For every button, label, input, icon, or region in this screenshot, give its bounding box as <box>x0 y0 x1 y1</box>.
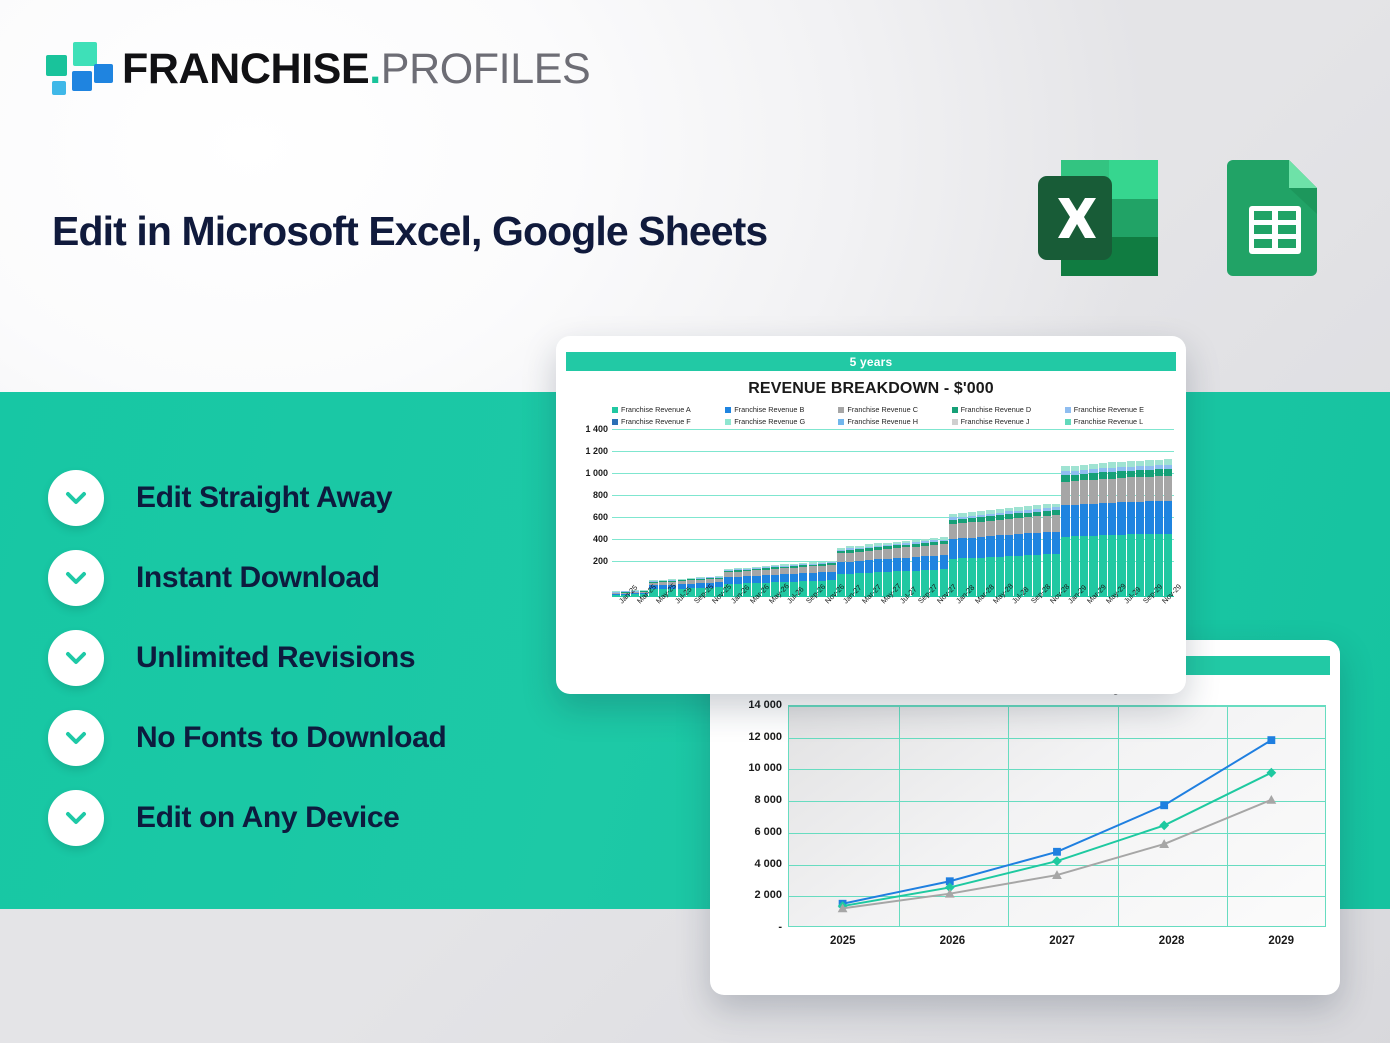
legend-item: Franchise Revenue G <box>725 417 838 426</box>
bar-segment <box>977 522 985 537</box>
y-tick-label: 8 000 <box>754 794 782 806</box>
list-item: No Fonts to Download <box>48 698 446 778</box>
bar-segment <box>1014 518 1022 534</box>
bar-column <box>1061 466 1069 597</box>
bar-column <box>1155 460 1163 597</box>
bar-segment <box>1099 472 1107 479</box>
y-axis-labels: 1 4001 2001 000800600400200 <box>566 429 608 583</box>
app-icon-group <box>1032 152 1342 284</box>
bar-segment <box>1014 534 1022 556</box>
data-point-marker <box>1266 795 1276 804</box>
bar-segment <box>968 538 976 558</box>
bar-segment <box>1080 504 1088 536</box>
y-tick-label: 800 <box>593 490 608 500</box>
bar-segment <box>893 558 901 571</box>
bar-segment <box>1136 477 1144 502</box>
bar-segment <box>1127 502 1135 535</box>
x-tick-label: 2026 <box>940 935 966 947</box>
bar-segment <box>1043 532 1051 554</box>
plot-area <box>788 705 1326 927</box>
bar-segment <box>1089 480 1097 504</box>
bar-segment <box>790 574 798 582</box>
bar-segment <box>986 536 994 557</box>
bar-segment <box>1005 535 1013 556</box>
bar-segment <box>1164 469 1172 476</box>
bar-segment <box>1164 501 1172 534</box>
legend-item: Franchise Revenue E <box>1065 405 1178 414</box>
bar-segment <box>1043 516 1051 533</box>
legend-label: Franchise Revenue H <box>847 417 918 426</box>
feature-list: Edit Straight Away Instant Download Unli… <box>48 458 446 858</box>
bar-segment <box>1052 532 1060 554</box>
bar-segment <box>1145 501 1153 534</box>
legend-swatch <box>725 407 731 413</box>
y-tick-label: 600 <box>593 512 608 522</box>
y-tick-label: 4 000 <box>754 858 782 870</box>
bar-segment <box>855 552 863 561</box>
bar-column <box>1071 466 1079 598</box>
y-tick-label: 10 000 <box>748 762 782 774</box>
brand-logo: FRANCHISE.PROFILES <box>46 42 590 96</box>
bar-segment <box>958 538 966 558</box>
bar-segment <box>1024 517 1032 533</box>
bar-segment <box>752 576 760 583</box>
bar-segment <box>921 546 929 556</box>
bar-segment <box>1136 470 1144 477</box>
google-sheets-icon <box>1208 152 1342 284</box>
microsoft-excel-icon <box>1032 152 1166 284</box>
legend-swatch <box>952 407 958 413</box>
bar-segment <box>1071 481 1079 505</box>
bar-segment <box>1155 476 1163 501</box>
bar-segment <box>1033 533 1041 555</box>
legend-swatch <box>725 419 731 425</box>
bar-column <box>1089 464 1097 597</box>
chart-title: REVENUE BREAKDOWN - $'000 <box>556 380 1186 398</box>
chevron-down-icon <box>48 470 104 526</box>
data-point-marker <box>1160 801 1168 809</box>
bar-segment <box>874 550 882 560</box>
legend-swatch <box>1065 419 1071 425</box>
feature-label: No Fonts to Download <box>136 721 446 755</box>
bar-segment <box>921 556 929 570</box>
legend-swatch <box>952 419 958 425</box>
chevron-down-icon <box>48 550 104 606</box>
legend-item: Franchise Revenue H <box>838 417 951 426</box>
bar-column <box>1024 506 1032 597</box>
bar-column <box>1164 459 1172 597</box>
legend-label: Franchise Revenue E <box>1074 405 1144 414</box>
bar-segment <box>949 539 957 559</box>
bar-column <box>1127 461 1135 597</box>
feature-label: Edit on Any Device <box>136 801 399 835</box>
bar-segment <box>837 553 845 562</box>
bar-segment <box>1089 473 1097 480</box>
legend-item: Franchise Revenue L <box>1065 417 1178 426</box>
x-tick-label: 2025 <box>830 935 856 947</box>
bar-segment <box>771 575 779 583</box>
bar-segment <box>1033 516 1041 533</box>
bar-segment <box>883 549 891 559</box>
x-axis-labels: 20252026202720282029 <box>788 935 1326 955</box>
x-axis-labels: Jan-25Mar-25May-25Jul-25Sep-25Nov-25Jan-… <box>612 597 1174 645</box>
bar-segment <box>855 561 863 573</box>
bar-segment <box>1117 502 1125 534</box>
bar-segment <box>837 562 845 574</box>
legend-swatch <box>838 419 844 425</box>
y-tick-label: 1 000 <box>585 468 608 478</box>
legend-label: Franchise Revenue F <box>621 417 691 426</box>
legend-label: Franchise Revenue L <box>1074 417 1143 426</box>
bar-segment <box>1099 503 1107 535</box>
legend-label: Franchise Revenue B <box>734 405 804 414</box>
legend-swatch <box>612 407 618 413</box>
bar-segment <box>883 559 891 572</box>
brand-name-bold: FRANCHISE <box>122 45 369 93</box>
bar-segment <box>1099 479 1107 503</box>
legend-item: Franchise Revenue A <box>612 405 725 414</box>
bar-segment <box>1127 471 1135 478</box>
bar-column <box>996 509 1004 597</box>
y-tick-label: 2 000 <box>754 889 782 901</box>
x-tick-label: 2028 <box>1159 935 1185 947</box>
bar-segment <box>1052 515 1060 532</box>
bar-segment <box>940 555 948 569</box>
card-band-label: 5 years <box>566 352 1176 371</box>
data-point-marker <box>1159 821 1169 831</box>
bar-segment <box>940 544 948 555</box>
bar-column <box>1099 463 1107 597</box>
legend-swatch <box>612 419 618 425</box>
bar-segment <box>893 548 901 558</box>
bar-segment <box>1117 471 1125 478</box>
bar-segment <box>827 572 835 581</box>
legend-item: Franchise Revenue F <box>612 417 725 426</box>
bar-column <box>977 511 985 597</box>
legend-item: Franchise Revenue B <box>725 405 838 414</box>
y-tick-label: 400 <box>593 534 608 544</box>
bar-segment <box>1005 519 1013 535</box>
list-item: Unlimited Revisions <box>48 618 446 698</box>
bar-segment <box>734 577 742 584</box>
legend-label: Franchise Revenue A <box>621 405 691 414</box>
bar-column <box>1080 465 1088 597</box>
bar-segment <box>1117 478 1125 502</box>
bar-segment <box>799 573 807 581</box>
legend-label: Franchise Revenue C <box>847 405 918 414</box>
bar-column <box>1014 507 1022 597</box>
bar-segment <box>930 556 938 570</box>
bar-segment <box>1089 504 1097 536</box>
bar-segment <box>865 560 873 573</box>
data-point-marker <box>1267 736 1275 744</box>
bar-column <box>1145 460 1153 597</box>
bar-segment <box>968 522 976 537</box>
bar-segment <box>865 551 873 560</box>
legend-item: Franchise Revenue J <box>952 417 1065 426</box>
bar-segment <box>1127 477 1135 501</box>
promo-graphic: FRANCHISE.PROFILES Edit in Microsoft Exc… <box>0 0 1390 1043</box>
list-item: Edit Straight Away <box>48 458 446 538</box>
legend-label: Franchise Revenue G <box>734 417 805 426</box>
feature-label: Edit Straight Away <box>136 481 392 515</box>
y-tick-label: 14 000 <box>748 699 782 711</box>
bar-segment <box>986 521 994 537</box>
bar-segment <box>949 524 957 539</box>
chevron-down-icon <box>48 710 104 766</box>
feature-label: Unlimited Revisions <box>136 641 415 675</box>
line-series <box>843 740 1272 904</box>
bar-segment <box>902 547 910 557</box>
legend-swatch <box>1065 407 1071 413</box>
y-tick-label: - <box>778 921 782 933</box>
bar-segment <box>1136 502 1144 535</box>
revenue-breakdown-card: 5 years REVENUE BREAKDOWN - $'000 Franch… <box>556 336 1186 694</box>
bar-segment <box>874 559 882 572</box>
brand-wordmark: FRANCHISE.PROFILES <box>122 48 590 91</box>
feature-label: Instant Download <box>136 561 380 595</box>
bar-segment <box>977 537 985 558</box>
x-tick-label: 2027 <box>1049 935 1075 947</box>
list-item: Edit on Any Device <box>48 778 446 858</box>
bar-segment <box>1155 469 1163 476</box>
x-tick-label: 2029 <box>1268 935 1294 947</box>
bar-segment <box>1061 482 1069 506</box>
bar-column <box>1033 505 1041 597</box>
bar-segment <box>1080 480 1088 504</box>
bar-column <box>958 513 966 597</box>
data-point-marker <box>1053 848 1061 856</box>
bar-segment <box>912 557 920 571</box>
data-point-marker <box>1266 768 1276 778</box>
bar-segment <box>912 547 920 557</box>
y-tick-label: 1 200 <box>585 446 608 456</box>
bar-segment <box>1164 476 1172 501</box>
y-tick-label: 1 400 <box>585 424 608 434</box>
bar-segment <box>996 520 1004 536</box>
bar-segment <box>762 575 770 582</box>
list-item: Instant Download <box>48 538 446 618</box>
bar-chart-plot: 1 4001 2001 000800600400200 <box>566 429 1174 597</box>
chart-legend: Franchise Revenue AFranchise Revenue BFr… <box>612 405 1178 426</box>
legend-label: Franchise Revenue J <box>961 417 1030 426</box>
bar-segment <box>1108 479 1116 503</box>
bar-segment <box>1071 505 1079 537</box>
bar-column <box>1117 462 1125 597</box>
bar-column <box>1136 461 1144 597</box>
bar-segment <box>1108 472 1116 479</box>
y-tick-label: 200 <box>593 556 608 566</box>
bar-segment <box>1155 501 1163 534</box>
legend-label: Franchise Revenue D <box>961 405 1032 414</box>
squares-mosaic-icon <box>46 42 104 96</box>
bar-segment <box>930 545 938 556</box>
bar-segment <box>1145 477 1153 502</box>
data-point-marker <box>1052 856 1062 866</box>
line-chart-plot: 14 00012 00010 0008 0006 0004 0002 000- … <box>720 705 1326 973</box>
bar-column <box>1108 462 1116 597</box>
y-axis-labels: 14 00012 00010 0008 0006 0004 0002 000- <box>720 705 782 927</box>
bar-segment <box>1080 474 1088 481</box>
bar-segment <box>846 562 854 574</box>
bar-segment <box>902 558 910 572</box>
brand-name-dot: . <box>369 45 381 93</box>
line-series <box>843 773 1272 906</box>
bar-column <box>1052 504 1060 597</box>
bar-segment <box>846 553 854 562</box>
bar-segment <box>1145 470 1153 477</box>
bar-segment <box>1108 503 1116 535</box>
bar-segment <box>818 572 826 581</box>
bar-series-group <box>612 443 1172 597</box>
brand-name-light: PROFILES <box>381 45 590 93</box>
legend-swatch <box>838 407 844 413</box>
chevron-down-icon <box>48 630 104 686</box>
chevron-down-icon <box>48 790 104 846</box>
y-tick-label: 12 000 <box>748 731 782 743</box>
bar-segment <box>958 523 966 538</box>
bar-segment <box>996 535 1004 556</box>
bar-segment <box>1024 533 1032 555</box>
legend-item: Franchise Revenue D <box>952 405 1065 414</box>
legend-item: Franchise Revenue C <box>838 405 951 414</box>
bar-segment <box>809 573 817 581</box>
bar-segment <box>1061 505 1069 536</box>
page-title: Edit in Microsoft Excel, Google Sheets <box>52 208 767 255</box>
y-tick-label: 6 000 <box>754 826 782 838</box>
